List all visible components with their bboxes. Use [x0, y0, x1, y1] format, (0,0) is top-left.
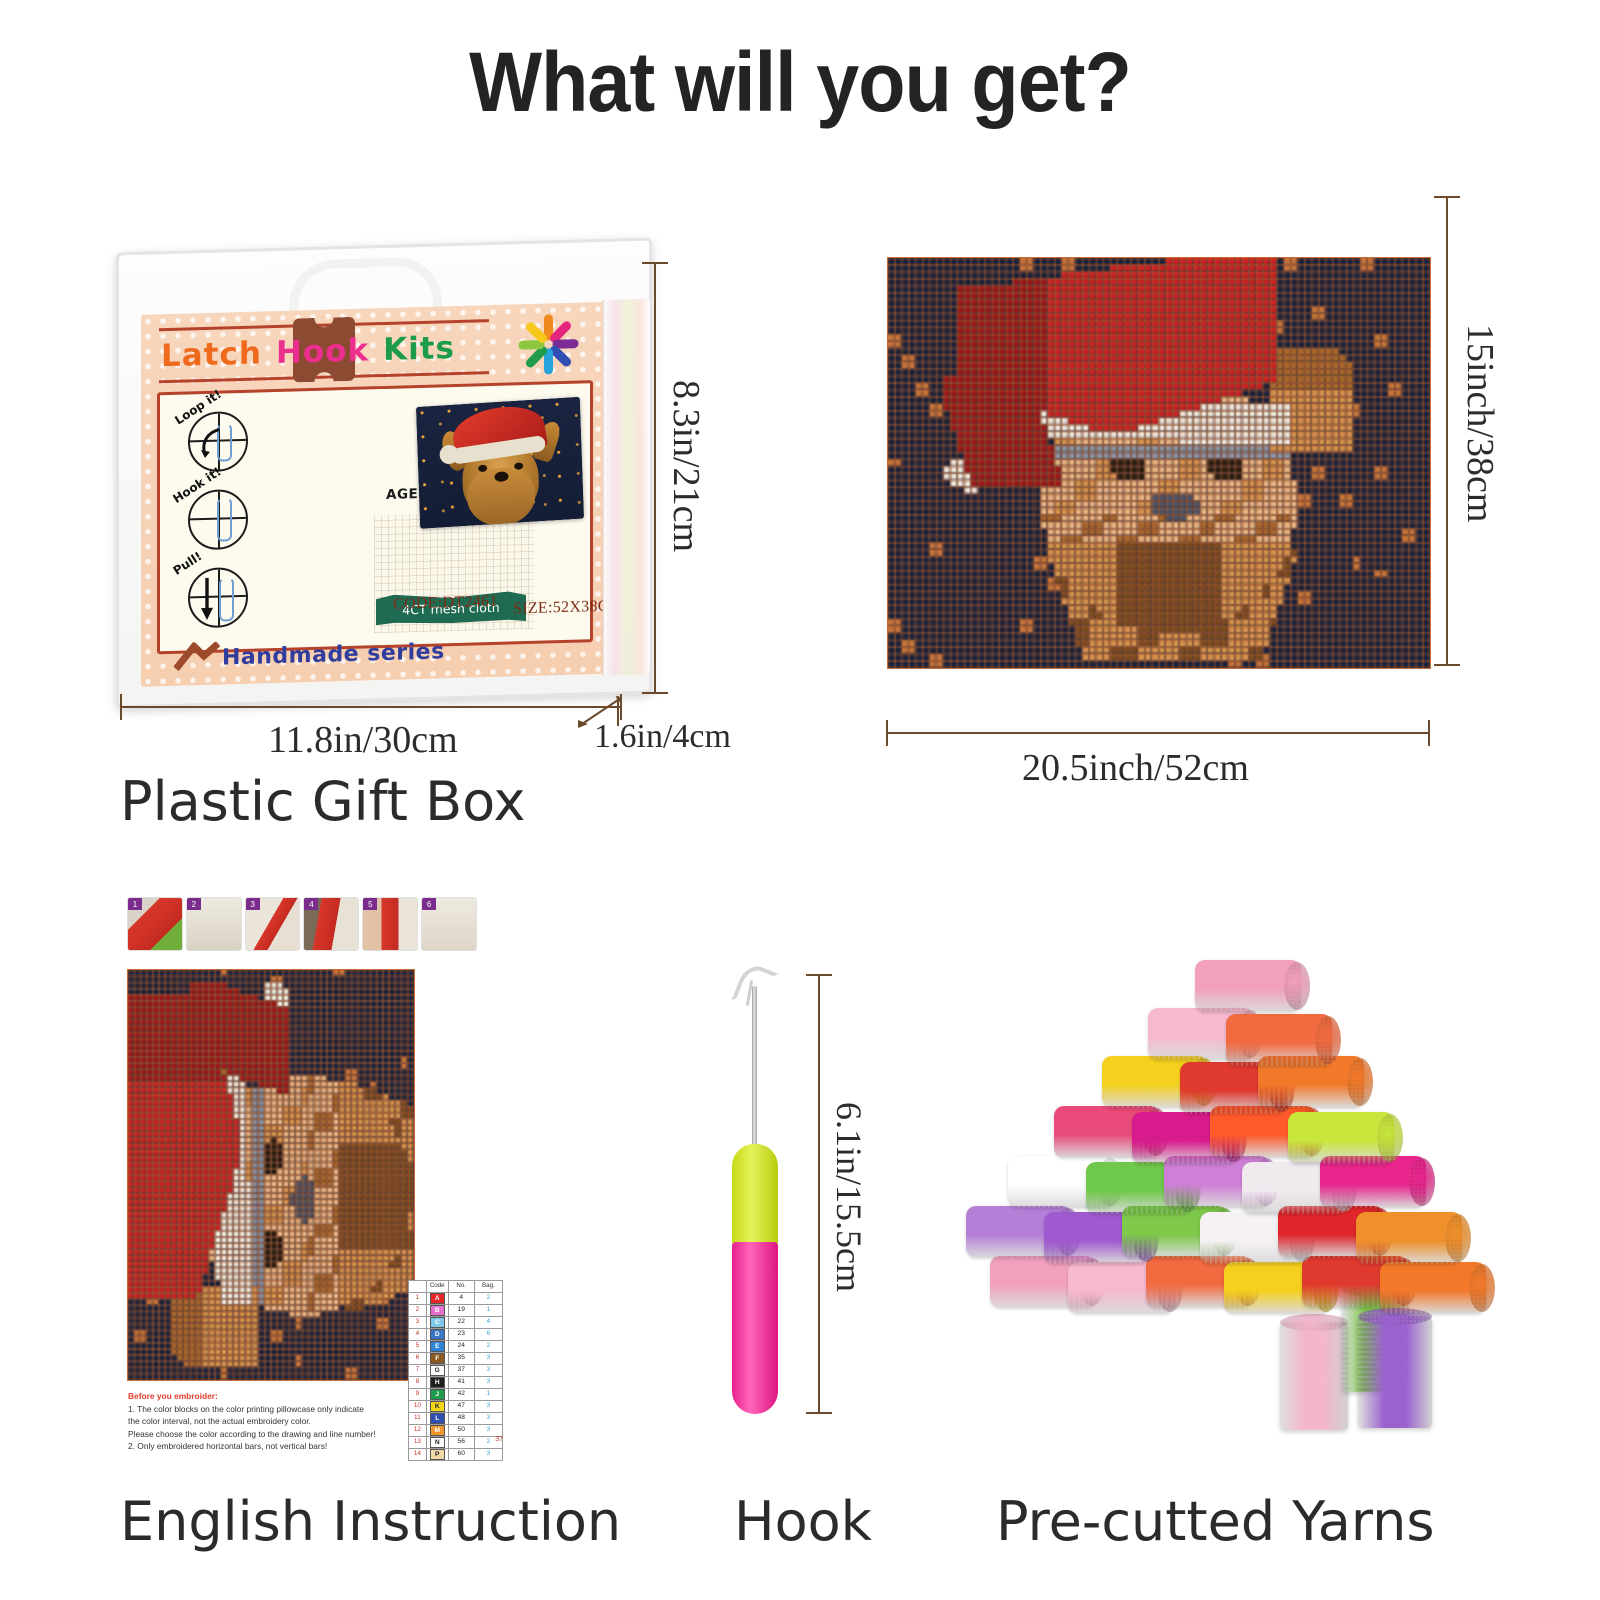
table-row: 14P603 [409, 1448, 503, 1460]
instruction-thumbnail: 11 [128, 898, 182, 950]
caption-plastic-gift-box: Plastic Gift Box [120, 770, 525, 833]
row-number: 24 [448, 1340, 474, 1352]
table-row: 8H413 [409, 1376, 503, 1388]
row-code: E [426, 1340, 448, 1352]
canvas-height-dim-line [1446, 196, 1448, 666]
thumbnail-number: 2 [187, 898, 201, 910]
row-index: 3 [409, 1316, 427, 1328]
table-row: 3C224 [409, 1316, 503, 1328]
table-row: 5E242 [409, 1340, 503, 1352]
step-diagram-loop [188, 411, 248, 473]
before-note-line-1: 1. The color blocks on the color printin… [128, 1404, 364, 1414]
before-you-embroider-note: Before you embroider: 1. The color block… [128, 1390, 376, 1452]
color-swatch: L [430, 1413, 445, 1424]
hook-length-dim-text: 6.1in/15.5cm [828, 1102, 870, 1292]
yarn-figure: Pre-cutted Yarns [950, 930, 1470, 1430]
row-code: M [426, 1424, 448, 1436]
row-code: P [426, 1448, 448, 1460]
table-row: 7G373 [409, 1364, 503, 1376]
before-note-heading: Before you embroider: [128, 1390, 376, 1402]
row-index: 6 [409, 1352, 427, 1364]
color-table-header: No. [448, 1281, 474, 1293]
row-code: D [426, 1328, 448, 1340]
color-table-total: 37 [408, 1436, 510, 1443]
yarn-bundle-end [1315, 1016, 1341, 1064]
row-number: 19 [448, 1304, 474, 1316]
yarn-bundle [1288, 1112, 1394, 1164]
product-code: CODE:DT2461 [393, 593, 498, 614]
color-swatch: G [430, 1365, 445, 1376]
caption-pre-cutted-yarns: Pre-cutted Yarns [996, 1490, 1435, 1553]
row-index: 1 [409, 1292, 427, 1304]
instruction-thumbnail: 44 [304, 898, 358, 950]
row-index: 11 [409, 1412, 427, 1424]
row-code: L [426, 1412, 448, 1424]
table-row: 10K473 [409, 1400, 503, 1412]
hook-length-dim-line [818, 974, 820, 1414]
yarn-spool-top [1280, 1314, 1348, 1331]
step-diagram-pull [188, 567, 248, 629]
row-bag: 3 [474, 1364, 502, 1376]
instruction-thumbnail: 55 [363, 898, 417, 950]
hook-barb-icon [731, 961, 778, 1013]
thumbnail-number: 5 [363, 898, 377, 910]
color-swatch: F [430, 1353, 445, 1364]
row-bag: 2 [474, 1292, 502, 1304]
box-height-dim-line [654, 262, 656, 694]
series-mark: ” [382, 647, 386, 662]
step-diagram-hook [188, 489, 248, 551]
color-swatch: K [430, 1401, 445, 1412]
row-number: 48 [448, 1412, 474, 1424]
color-swatch: A [430, 1293, 445, 1304]
color-swatch: H [430, 1377, 445, 1388]
row-number: 50 [448, 1424, 474, 1436]
row-number: 42 [448, 1388, 474, 1400]
table-row: 12M503 [409, 1424, 503, 1436]
color-table-header: Code [426, 1281, 448, 1293]
yarn-bundle [1380, 1262, 1486, 1314]
yarn-bundle-end [1377, 1114, 1403, 1162]
yarn-color-code-table: CodeNo.Bag.1A422B1913C2244D2365E2426F353… [408, 1280, 503, 1461]
row-bag: 4 [474, 1316, 502, 1328]
row-index: 10 [409, 1400, 427, 1412]
hook-figure: 6.1in/15.5cm Hook [690, 960, 880, 1450]
color-table-header [409, 1281, 427, 1293]
row-index: 14 [409, 1448, 427, 1460]
yarn-spool [1280, 1322, 1348, 1430]
rug-preview-image [416, 397, 584, 529]
row-bag: 3 [474, 1412, 502, 1424]
box-height-dim-text: 8.3in/21cm [664, 380, 708, 552]
row-index: 8 [409, 1376, 427, 1388]
hook-handle-upper [732, 1144, 778, 1246]
row-bag: 3 [474, 1352, 502, 1364]
gift-box: Latch Hook Kits Loop it! Hook it! P [116, 238, 652, 709]
yarn-bundle [1226, 1014, 1332, 1066]
before-note-line-2: the color interval, not the actual embro… [128, 1416, 311, 1426]
table-row: 9J421 [409, 1388, 503, 1400]
box-handle [289, 256, 442, 313]
canvas-width-dim-text: 20.5inch/52cm [1022, 746, 1249, 790]
row-index: 7 [409, 1364, 427, 1376]
row-number: 4 [448, 1292, 474, 1304]
kit-title-word-1: Latch [161, 335, 262, 374]
table-row: 11L483 [409, 1412, 503, 1424]
thumbnail-number: 1 [128, 898, 142, 910]
yarn-spool [1358, 1316, 1432, 1428]
yarn-bundle-end [1409, 1158, 1435, 1206]
row-number: 60 [448, 1448, 474, 1460]
yarn-bundle-end [1469, 1264, 1495, 1312]
yarn-bundle-end [1284, 962, 1310, 1010]
mesh-canvas-figure: 15inch/38cm 20.5inch/52cm [860, 180, 1520, 820]
row-number: 41 [448, 1376, 474, 1388]
row-index: 4 [409, 1328, 427, 1340]
box-side-panel [602, 299, 650, 676]
box-front-artwork: Latch Hook Kits Loop it! Hook it! P [141, 302, 603, 687]
kit-title-word-2: Hook [276, 332, 369, 371]
box-width-dim-line [120, 706, 622, 708]
printed-mesh-canvas [888, 258, 1430, 668]
row-bag: 6 [474, 1328, 502, 1340]
row-index: 5 [409, 1340, 427, 1352]
color-swatch: E [430, 1341, 445, 1352]
instruction-thumbnail: 33 [246, 898, 300, 950]
infographic-page: What will you get? Latch Hook Kits Loop … [0, 0, 1600, 1600]
row-bag: 3 [474, 1376, 502, 1388]
row-code: F [426, 1352, 448, 1364]
row-code: B [426, 1304, 448, 1316]
yarn-bundle [1195, 960, 1301, 1012]
instruction-step-thumbnails: 112233445566 [128, 898, 476, 950]
page-title: What will you get? [64, 34, 1536, 131]
before-note-line-4: 2. Only embroidered horizontal bars, not… [128, 1441, 327, 1451]
color-swatch: C [430, 1317, 445, 1328]
handmade-series-label: Handmade series [222, 639, 445, 670]
row-number: 22 [448, 1316, 474, 1328]
row-bag: 1 [474, 1388, 502, 1400]
thumbnail-number: 4 [304, 898, 318, 910]
kit-title-word-3: Kits [383, 330, 455, 368]
box-width-dim-text: 11.8in/30cm [268, 718, 458, 762]
table-row: 1A42 [409, 1292, 503, 1304]
yarn-bundle-end [1445, 1214, 1471, 1262]
row-code: C [426, 1316, 448, 1328]
canvas-height-dim-text: 15inch/38cm [1458, 324, 1502, 522]
color-swatch: J [430, 1389, 445, 1400]
row-bag: 1 [474, 1304, 502, 1316]
pinwheel-logo-icon [517, 313, 579, 377]
before-note-line-3: Please choose the color according to the… [128, 1429, 376, 1439]
color-swatch: P [430, 1449, 445, 1460]
table-row: 2B191 [409, 1304, 503, 1316]
color-swatch: D [430, 1329, 445, 1340]
instruction-thumbnail: 66 [422, 898, 476, 950]
row-code: A [426, 1292, 448, 1304]
row-bag: 3 [474, 1424, 502, 1436]
row-number: 37 [448, 1364, 474, 1376]
canvas-width-dim-line [886, 732, 1430, 734]
instruction-chart-canvas [128, 970, 414, 1380]
row-code: K [426, 1400, 448, 1412]
table-row: 6F353 [409, 1352, 503, 1364]
gift-box-figure: Latch Hook Kits Loop it! Hook it! P [108, 200, 668, 720]
yarn-bundle [1356, 1212, 1462, 1264]
caption-hook: Hook [734, 1490, 872, 1553]
row-number: 47 [448, 1400, 474, 1412]
color-table-header: Bag. [474, 1281, 502, 1293]
ribbon-icon [174, 642, 220, 673]
row-bag: 2 [474, 1340, 502, 1352]
instruction-figure: 112233445566 Before you embroider: 1. Th… [120, 898, 520, 1498]
row-code: H [426, 1376, 448, 1388]
kit-title: Latch Hook Kits [161, 323, 491, 380]
row-index: 9 [409, 1388, 427, 1400]
row-index: 2 [409, 1304, 427, 1316]
hook-handle-lower [732, 1242, 778, 1414]
color-swatch: B [430, 1305, 445, 1316]
table-row: 4D236 [409, 1328, 503, 1340]
box-depth-dim-arrows [578, 670, 648, 730]
row-code: J [426, 1388, 448, 1400]
row-index: 12 [409, 1424, 427, 1436]
row-bag: 3 [474, 1448, 502, 1460]
row-code: G [426, 1364, 448, 1376]
row-bag: 3 [474, 1400, 502, 1412]
product-size: SIZE:52X38CM [513, 597, 603, 618]
caption-english-instruction: English Instruction [120, 1490, 621, 1553]
thumbnail-number: 3 [246, 898, 260, 910]
thumbnail-number: 6 [422, 898, 436, 910]
yarn-bundle-end [1347, 1058, 1373, 1106]
instruction-thumbnail: 22 [187, 898, 241, 950]
row-number: 35 [448, 1352, 474, 1364]
color-swatch: M [430, 1425, 445, 1436]
row-number: 23 [448, 1328, 474, 1340]
